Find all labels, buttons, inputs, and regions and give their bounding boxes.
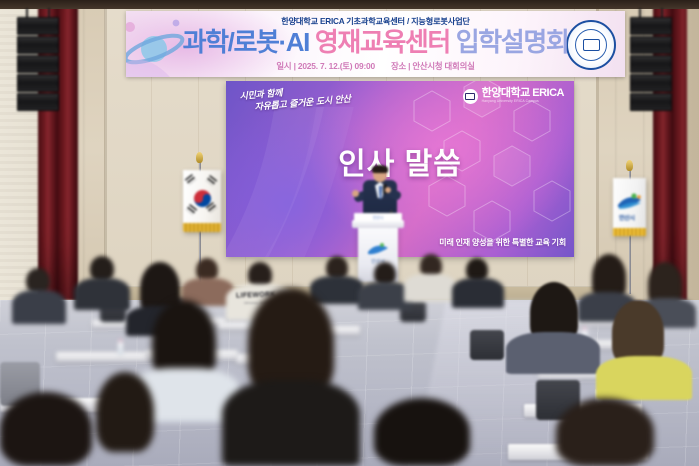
speaker-right-hand [385, 187, 391, 193]
audience-shoulders [506, 332, 600, 374]
trigram-ri-icon [186, 204, 197, 215]
audience-head-foreground [0, 392, 92, 466]
flag-finial-left-icon [196, 152, 203, 163]
speaker-hair [372, 165, 388, 173]
audience-shoulders [404, 274, 456, 302]
banner-date-value: 2025. 7. 12.(토) 09:00 [298, 61, 375, 71]
audience-shoulders [74, 278, 130, 310]
ceiling-soffit [0, 0, 699, 9]
flag-finial-right-icon [626, 160, 633, 171]
desk [56, 352, 148, 362]
flag-fringe-left [183, 223, 221, 232]
audience-shoulders [596, 356, 692, 400]
slide-footer-text: 미래 인재 양성을 위한 특별한 교육 기회 [439, 237, 566, 248]
trigram-geon-icon [185, 174, 196, 185]
audience-shoulders-foreground [222, 380, 360, 466]
speaker-left-hand [352, 190, 359, 197]
wall-seam-left [104, 0, 107, 300]
audience-head-foreground [374, 398, 470, 466]
audience-shoulders [452, 278, 504, 308]
university-logo: 한양대학교 ERICA Hanyang University ERICA Cam… [463, 88, 564, 104]
banner-date-label: 일시 [276, 61, 291, 71]
university-logo-text: 한양대학교 ERICA [482, 88, 564, 99]
university-logo-subtext: Hanyang University ERICA Campus [482, 99, 564, 104]
event-banner: 한양대학교 ERICA 기초과학교육센터 / 지능형로봇사업단 과학/로봇·AI… [126, 11, 625, 77]
banner-sep-1: | [294, 61, 296, 71]
audience-shoulders [12, 290, 66, 324]
podium-top-surface [352, 220, 404, 228]
banner-place-label: 장소 [391, 61, 406, 71]
ansan-city-emblem-icon [617, 192, 642, 210]
chair-back [470, 330, 504, 360]
trigram-gam-icon [206, 175, 217, 186]
audience-head-foreground [556, 398, 654, 466]
banner-sep-2: | [408, 61, 410, 71]
banner-detail-line: 일시 | 2025. 7. 12.(토) 09:00장소 | 안산시청 대회의실 [126, 60, 625, 72]
flag-fringe-right [613, 228, 646, 236]
line-array-speaker-left [17, 8, 59, 111]
city-flag-text: 안산시 [619, 213, 635, 222]
banner-title: 과학/로봇·AI 영재교육센터 입학설명회 [126, 25, 625, 59]
banner-title-part3: 입학설명회 [450, 27, 568, 57]
korean-national-flag [183, 170, 221, 232]
audience-head-foreground [96, 372, 154, 452]
banner-title-part1: 과학/로봇·AI [183, 27, 315, 57]
university-logo-mark-icon [463, 89, 478, 104]
event-photo-scene: 한양대학교 ERICA 기초과학교육센터 / 지능형로봇사업단 과학/로봇·AI… [0, 0, 699, 466]
ansan-city-flag: 안산시 [613, 178, 646, 236]
banner-place-value: 안산시청 대회의실 [412, 61, 474, 71]
banner-title-part2: 영재교육센터 [315, 27, 450, 57]
line-array-speaker-right [630, 8, 672, 111]
water-bottle [118, 342, 123, 355]
